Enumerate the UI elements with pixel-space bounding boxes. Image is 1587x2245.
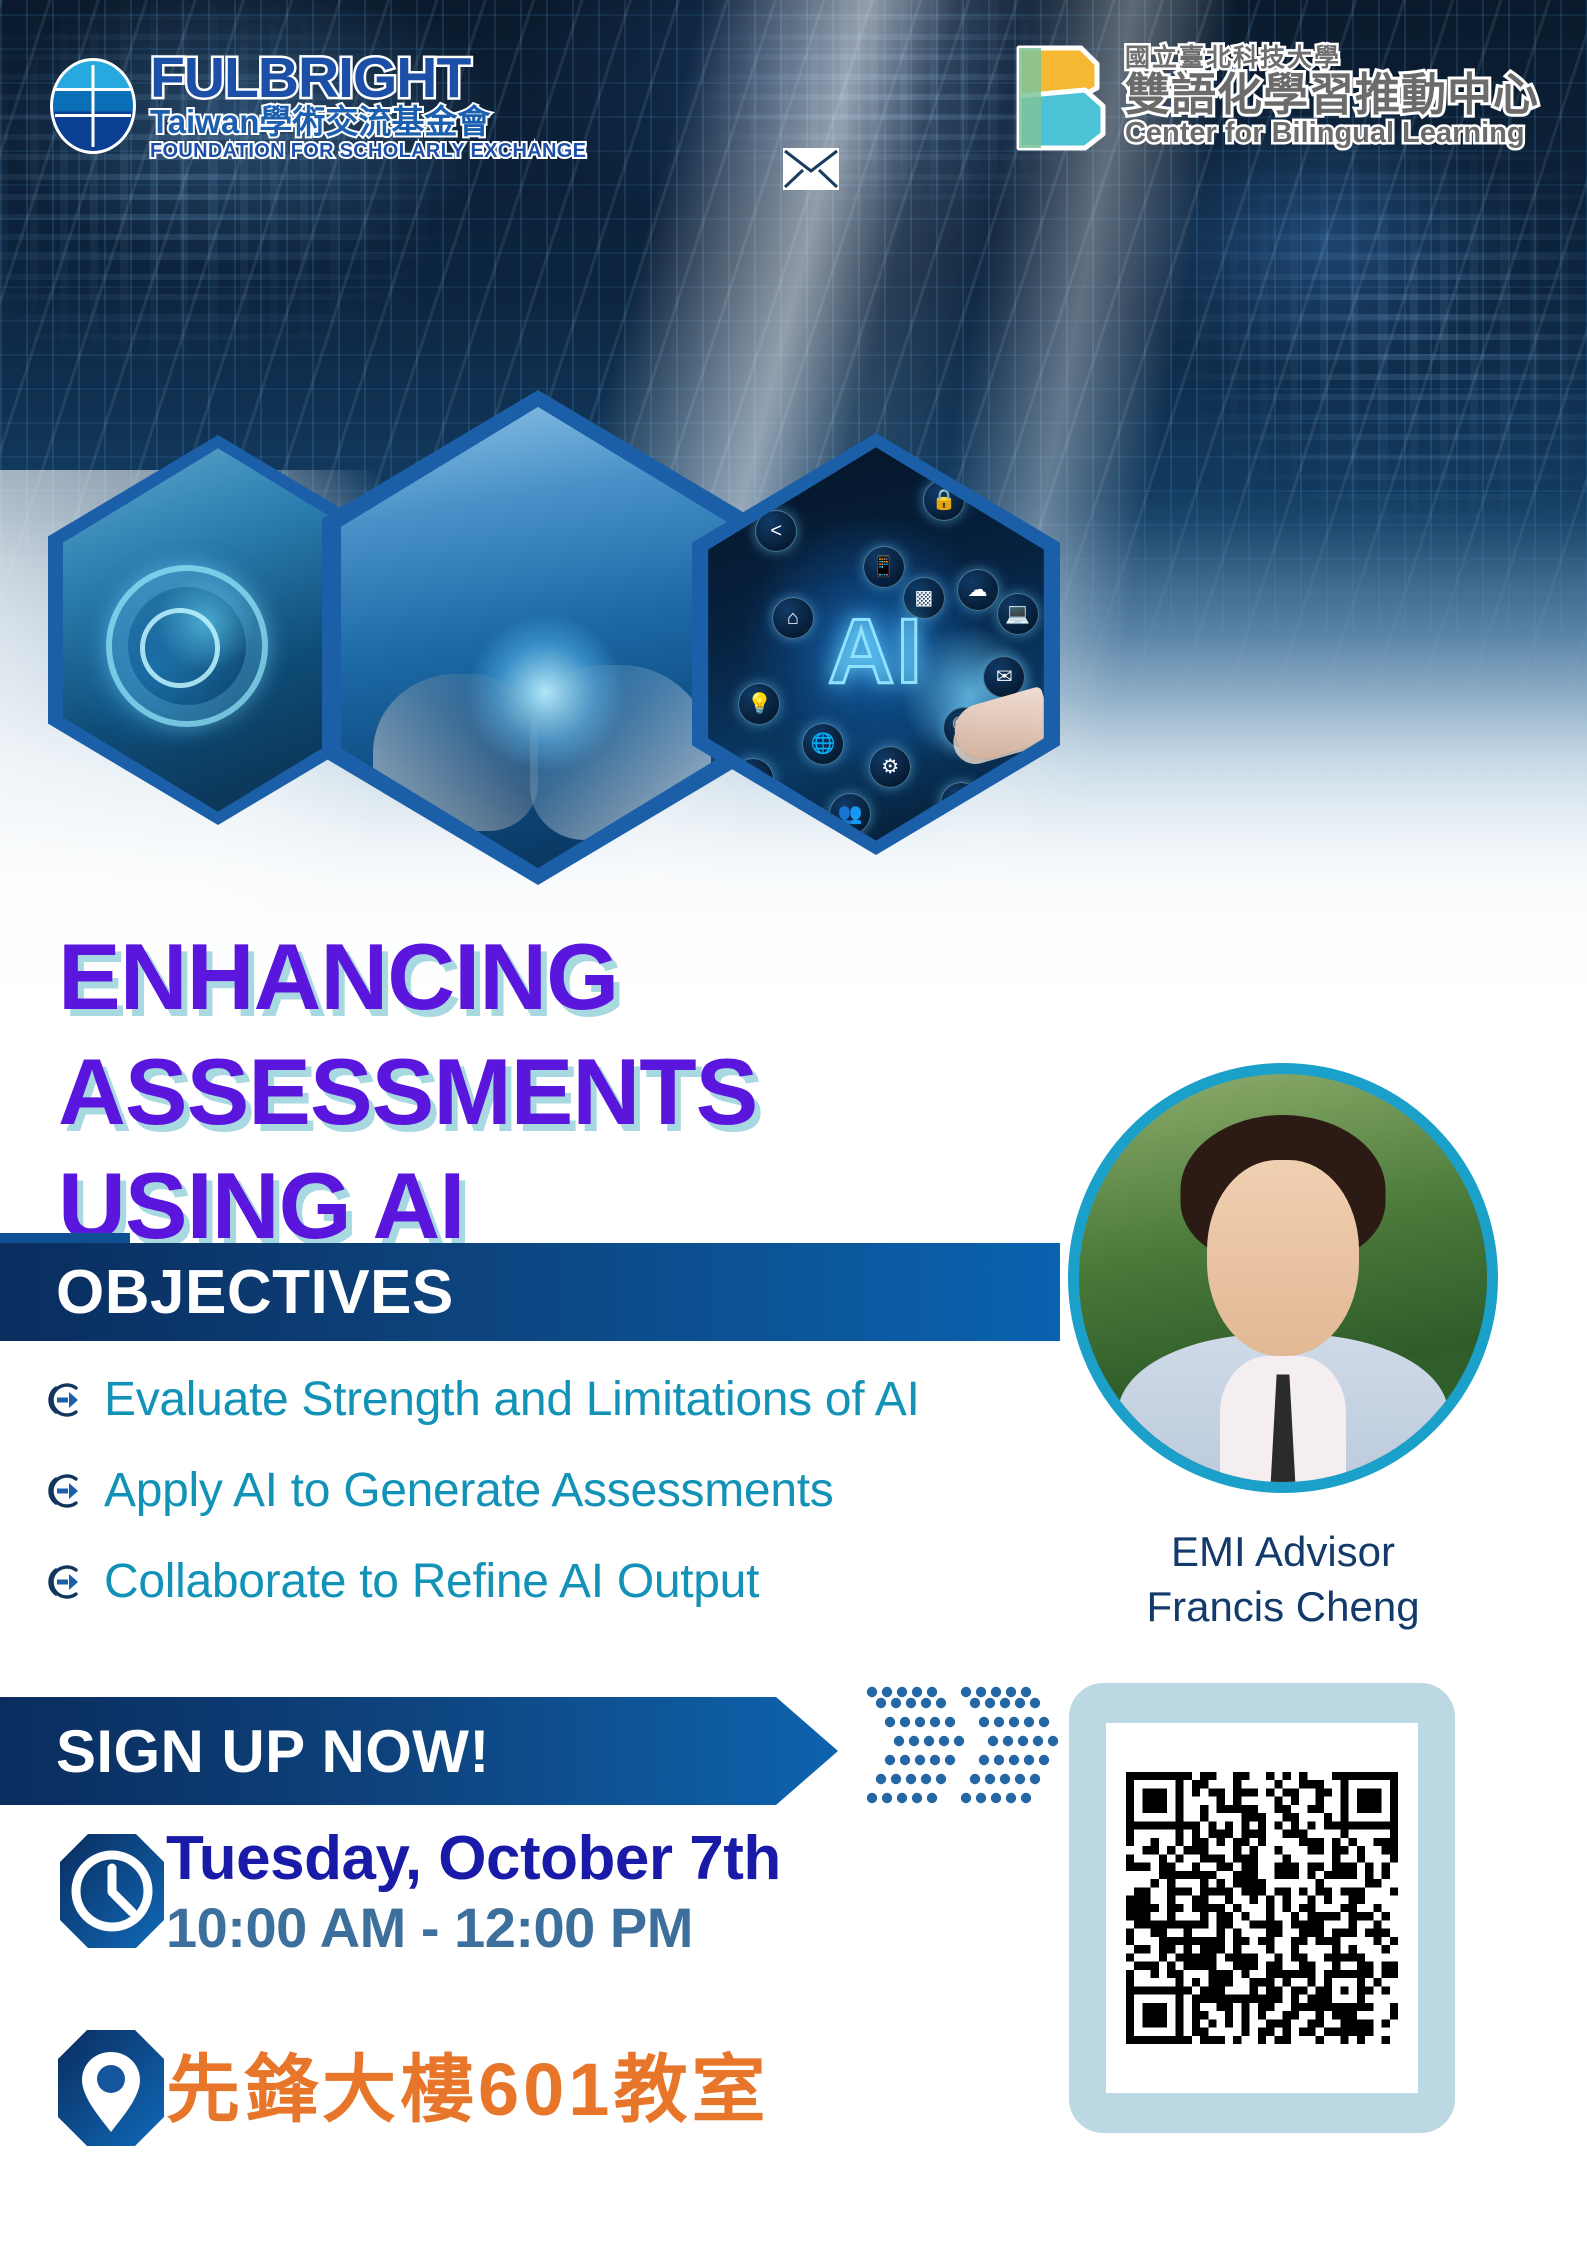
event-time: 10:00 AM - 12:00 PM [166,1897,781,1959]
signup-banner-label: SIGN UP NOW! [56,1717,490,1786]
speaker-name: Francis Cheng [1068,1579,1498,1634]
chat-icon: 💬 [940,782,982,824]
circle-arrow-right-icon [46,1562,86,1602]
fulbright-logo-name: FULBRIGHT [150,50,586,107]
objective-text: Apply AI to Generate Assessments [104,1463,833,1518]
clock-icon [58,1832,166,1950]
objectives-heading: OBJECTIVES [56,1257,454,1328]
list-item: Evaluate Strength and Limitations of AI [46,1372,1056,1427]
hexagon-ai-network-photo: < 📱 🔒 ▩ ☁ 💻 ⌂ ✉ 💡 🌐 🔍 ⚙ 🕑 💬 👥 AI [692,433,1060,855]
bilingual-center-logo: 國立臺北科技大學 雙語化學習推動中心 Center for Bilingual … [1011,38,1539,156]
speaker-portrait [1068,1063,1498,1493]
list-item: Collaborate to Refine AI Output [46,1554,1056,1609]
objectives-list: Evaluate Strength and Limitations of AI … [46,1372,1056,1645]
monitor-icon: 💻 [997,593,1039,635]
hero-hexagon-row: < 📱 🔒 ▩ ☁ 💻 ⌂ ✉ 💡 🌐 🔍 ⚙ 🕑 💬 👥 AI [0,195,1587,835]
bilingual-center-name-en: Center for Bilingual Learning [1125,119,1539,149]
envelope-icon [783,148,839,190]
gear-icon: ⚙ [869,746,911,788]
lightbulb-icon: 💡 [738,683,780,725]
objective-text: Collaborate to Refine AI Output [104,1554,759,1609]
objective-text: Evaluate Strength and Limitations of AI [104,1372,919,1427]
fulbright-logo-subtitle-en: FOUNDATION FOR SCHOLARLY EXCHANGE [150,141,586,161]
circle-arrow-right-icon [46,1471,86,1511]
globe-icon: 🌐 [802,723,844,765]
poster-root: FULBRIGHT Taiwan學術交流基金會 FOUNDATION FOR S… [0,0,1587,2245]
clock-icon: 🕑 [732,758,774,800]
fulbright-logo: FULBRIGHT Taiwan學術交流基金會 FOUNDATION FOR S… [50,50,586,161]
hexagon-human-robot-hands-photo [322,390,754,885]
qr-white-frame [1106,1723,1418,2093]
page-title: ENHANCING ASSESSMENTS USING AI [58,920,1118,1264]
list-item: Apply AI to Generate Assessments [46,1463,1056,1518]
ai-word-glow: AI [828,599,924,704]
event-date: Tuesday, October 7th [166,1826,781,1893]
globe-logo-icon [50,58,136,154]
qr-panel [1069,1683,1455,2133]
dot-grid-decoration [866,1684,1086,1824]
bilingual-center-university: 國立臺北科技大學 [1125,46,1539,72]
signup-banner: SIGN UP NOW! [0,1697,838,1805]
share-icon: < [755,510,797,552]
circle-arrow-right-icon [46,1380,86,1420]
cloud-icon: ☁ [957,569,999,611]
pointing-finger [948,686,1044,766]
objectives-banner: OBJECTIVES [0,1243,1060,1341]
map-pin-icon [56,2028,166,2148]
speaker-role: EMI Advisor [1068,1524,1498,1579]
page-title-line1: ENHANCING ASSESSMENTS [58,920,1118,1149]
fulbright-logo-subtitle-zh: Taiwan學術交流基金會 [150,105,586,138]
bilingual-center-name-zh: 雙語化學習推動中心 [1125,72,1539,118]
people-icon: 👥 [829,793,871,835]
speaker-info: EMI Advisor Francis Cheng [1068,1524,1498,1635]
lock-icon: 🔒 [923,479,965,521]
home-icon: ⌂ [772,597,814,639]
b-mark-logo-icon [1011,38,1115,156]
event-location: 先鋒大樓601教室 [166,2030,769,2137]
registration-qr-code[interactable] [1126,1772,1398,2044]
event-datetime: Tuesday, October 7th 10:00 AM - 12:00 PM [166,1826,781,1959]
phone-icon: 📱 [863,546,905,588]
avatar [1068,1063,1498,1493]
